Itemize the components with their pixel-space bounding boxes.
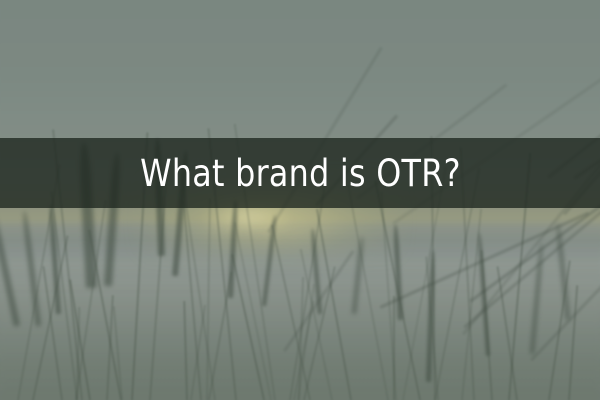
grass-stalk bbox=[393, 296, 395, 400]
grass-stalk bbox=[88, 230, 121, 400]
grass-stalk bbox=[316, 209, 352, 400]
question-text: What brand is OTR? bbox=[140, 155, 461, 192]
screenshot-canvas: What brand is OTR? bbox=[0, 0, 600, 400]
caption-band: What brand is OTR? bbox=[0, 138, 600, 208]
grass-blade bbox=[0, 204, 20, 327]
grass-blade bbox=[22, 211, 41, 327]
grass-stalk bbox=[231, 254, 264, 400]
grass-stalk bbox=[183, 301, 187, 400]
grass-stalk bbox=[568, 285, 578, 400]
grass-stalk bbox=[481, 250, 493, 400]
